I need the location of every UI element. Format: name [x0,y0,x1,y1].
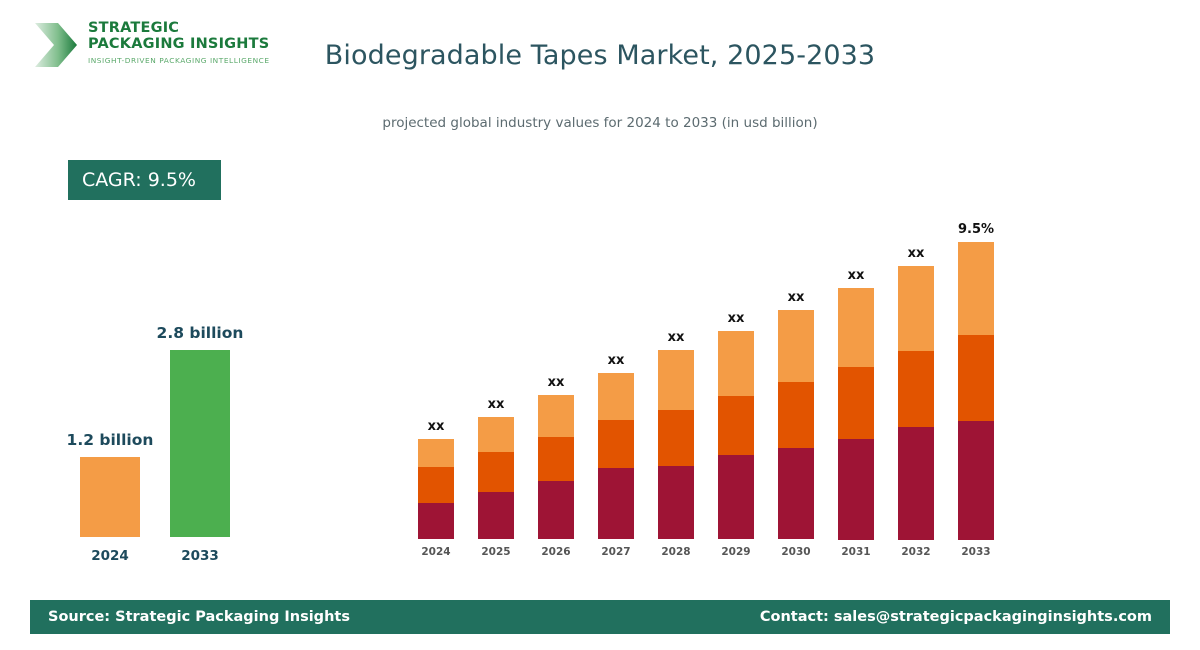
stacked-bar-value-label: 9.5% [931,222,1021,237]
bar-column: 2.8 billion [170,310,230,537]
stacked-bar-rect[interactable] [898,266,934,539]
stacked-bar-column: xx [898,247,934,560]
cagr-badge: CAGR: 9.5% [68,160,221,200]
stacked-bar-segment[interactable] [718,396,754,455]
stacked-bar-segment[interactable] [598,468,634,539]
stacked-bar-column: xx [478,398,514,560]
bar-rect[interactable] [170,350,230,537]
cagr-badge-label: CAGR: 9.5% [82,169,196,191]
bar-category-label: 2024 [80,548,140,564]
stacked-bar-segment[interactable] [898,427,934,540]
stacked-bar-value-label: xx [811,268,901,283]
bar-value-label: 2.8 billion [120,324,280,342]
stacked-bar-segment[interactable] [538,395,574,437]
stacked-bar-column: xx [778,291,814,560]
stacked-bar-category-label: 2027 [586,546,646,558]
stacked-bar-segment[interactable] [418,467,454,503]
stacked-bar-segment[interactable] [958,335,994,421]
stacked-bar-column: xx [718,312,754,560]
stacked-bar-rect[interactable] [538,395,574,539]
stacked-bar-value-label: xx [691,311,781,326]
stacked-bar-value-label: xx [391,419,481,434]
stacked-bar-rect[interactable] [838,288,874,539]
stacked-bar-segment[interactable] [418,503,454,539]
stacked-bar-segment[interactable] [778,310,814,382]
stacked-bar-category-label: 2032 [886,546,946,558]
stacked-bar-segment[interactable] [838,288,874,367]
stacked-bar-category-label: 2033 [946,546,1006,558]
stacked-bar-rect[interactable] [778,310,814,539]
stacked-bar-rect[interactable] [718,331,754,539]
stacked-bar-category-label: 2026 [526,546,586,558]
stacked-bar-category-label: 2024 [406,546,466,558]
bar-column: 1.2 billion [80,417,140,537]
stacked-bar-segment[interactable] [658,466,694,539]
stacked-bar-segment[interactable] [838,439,874,540]
stacked-bar-column: 9.5% [958,223,994,560]
stacked-bar-column: xx [418,420,454,560]
stacked-bar-segment[interactable] [718,455,754,539]
endpoint-comparison-chart: 1.2 billion20242.8 billion2033 [50,300,310,570]
stacked-bar-category-label: 2028 [646,546,706,558]
stacked-bar-category-label: 2031 [826,546,886,558]
page-title: Biodegradable Tapes Market, 2025-2033 [0,40,1200,71]
stacked-bar-segment[interactable] [958,242,994,335]
stacked-bar-segment[interactable] [898,351,934,427]
stacked-bar-value-label: xx [871,246,961,261]
stacked-bar-segment[interactable] [958,421,994,540]
stacked-bar-segment[interactable] [898,266,934,351]
stacked-bar-column: xx [838,269,874,560]
stacked-forecast-chart: xx2024xx2025xx2026xx2027xx2028xx2029xx20… [400,200,1020,560]
stacked-bar-rect[interactable] [958,242,994,539]
stacked-bar-segment[interactable] [658,350,694,410]
stacked-bar-category-label: 2030 [766,546,826,558]
stacked-bar-rect[interactable] [598,373,634,539]
bar-rect[interactable] [80,457,140,537]
stacked-bar-rect[interactable] [418,439,454,539]
stacked-bar-segment[interactable] [478,452,514,492]
stacked-bar-segment[interactable] [418,439,454,467]
stacked-bar-rect[interactable] [478,417,514,539]
stacked-bar-segment[interactable] [598,420,634,468]
stacked-bar-column: xx [658,331,694,560]
stacked-bar-value-label: xx [511,375,601,390]
footer-bar: Source: Strategic Packaging Insights Con… [30,600,1170,634]
stacked-bar-value-label: xx [451,397,541,412]
stacked-bar-column: xx [598,354,634,560]
stacked-bar-segment[interactable] [718,331,754,396]
footer-contact-label: Contact: sales@strategicpackaginginsight… [760,609,1152,625]
stacked-bar-value-label: xx [571,353,661,368]
stacked-bar-segment[interactable] [778,448,814,539]
stacked-bar-segment[interactable] [538,437,574,481]
logo-line-1: STRATEGIC [88,20,270,36]
stacked-bar-segment[interactable] [838,367,874,439]
stacked-bar-category-label: 2025 [466,546,526,558]
stacked-bar-segment[interactable] [478,492,514,539]
stacked-bar-segment[interactable] [598,373,634,420]
stacked-bar-column: xx [538,376,574,560]
footer-source-label: Source: Strategic Packaging Insights [48,609,350,625]
bar-value-label: 1.2 billion [30,431,190,449]
stacked-bar-value-label: xx [631,330,721,345]
page-subtitle: projected global industry values for 202… [0,115,1200,131]
stacked-bar-segment[interactable] [478,417,514,452]
stacked-bar-rect[interactable] [658,350,694,539]
stacked-bar-value-label: xx [751,290,841,305]
stacked-bar-segment[interactable] [538,481,574,539]
stacked-bar-category-label: 2029 [706,546,766,558]
stacked-bar-segment[interactable] [778,382,814,448]
bar-category-label: 2033 [170,548,230,564]
stacked-bar-segment[interactable] [658,410,694,466]
